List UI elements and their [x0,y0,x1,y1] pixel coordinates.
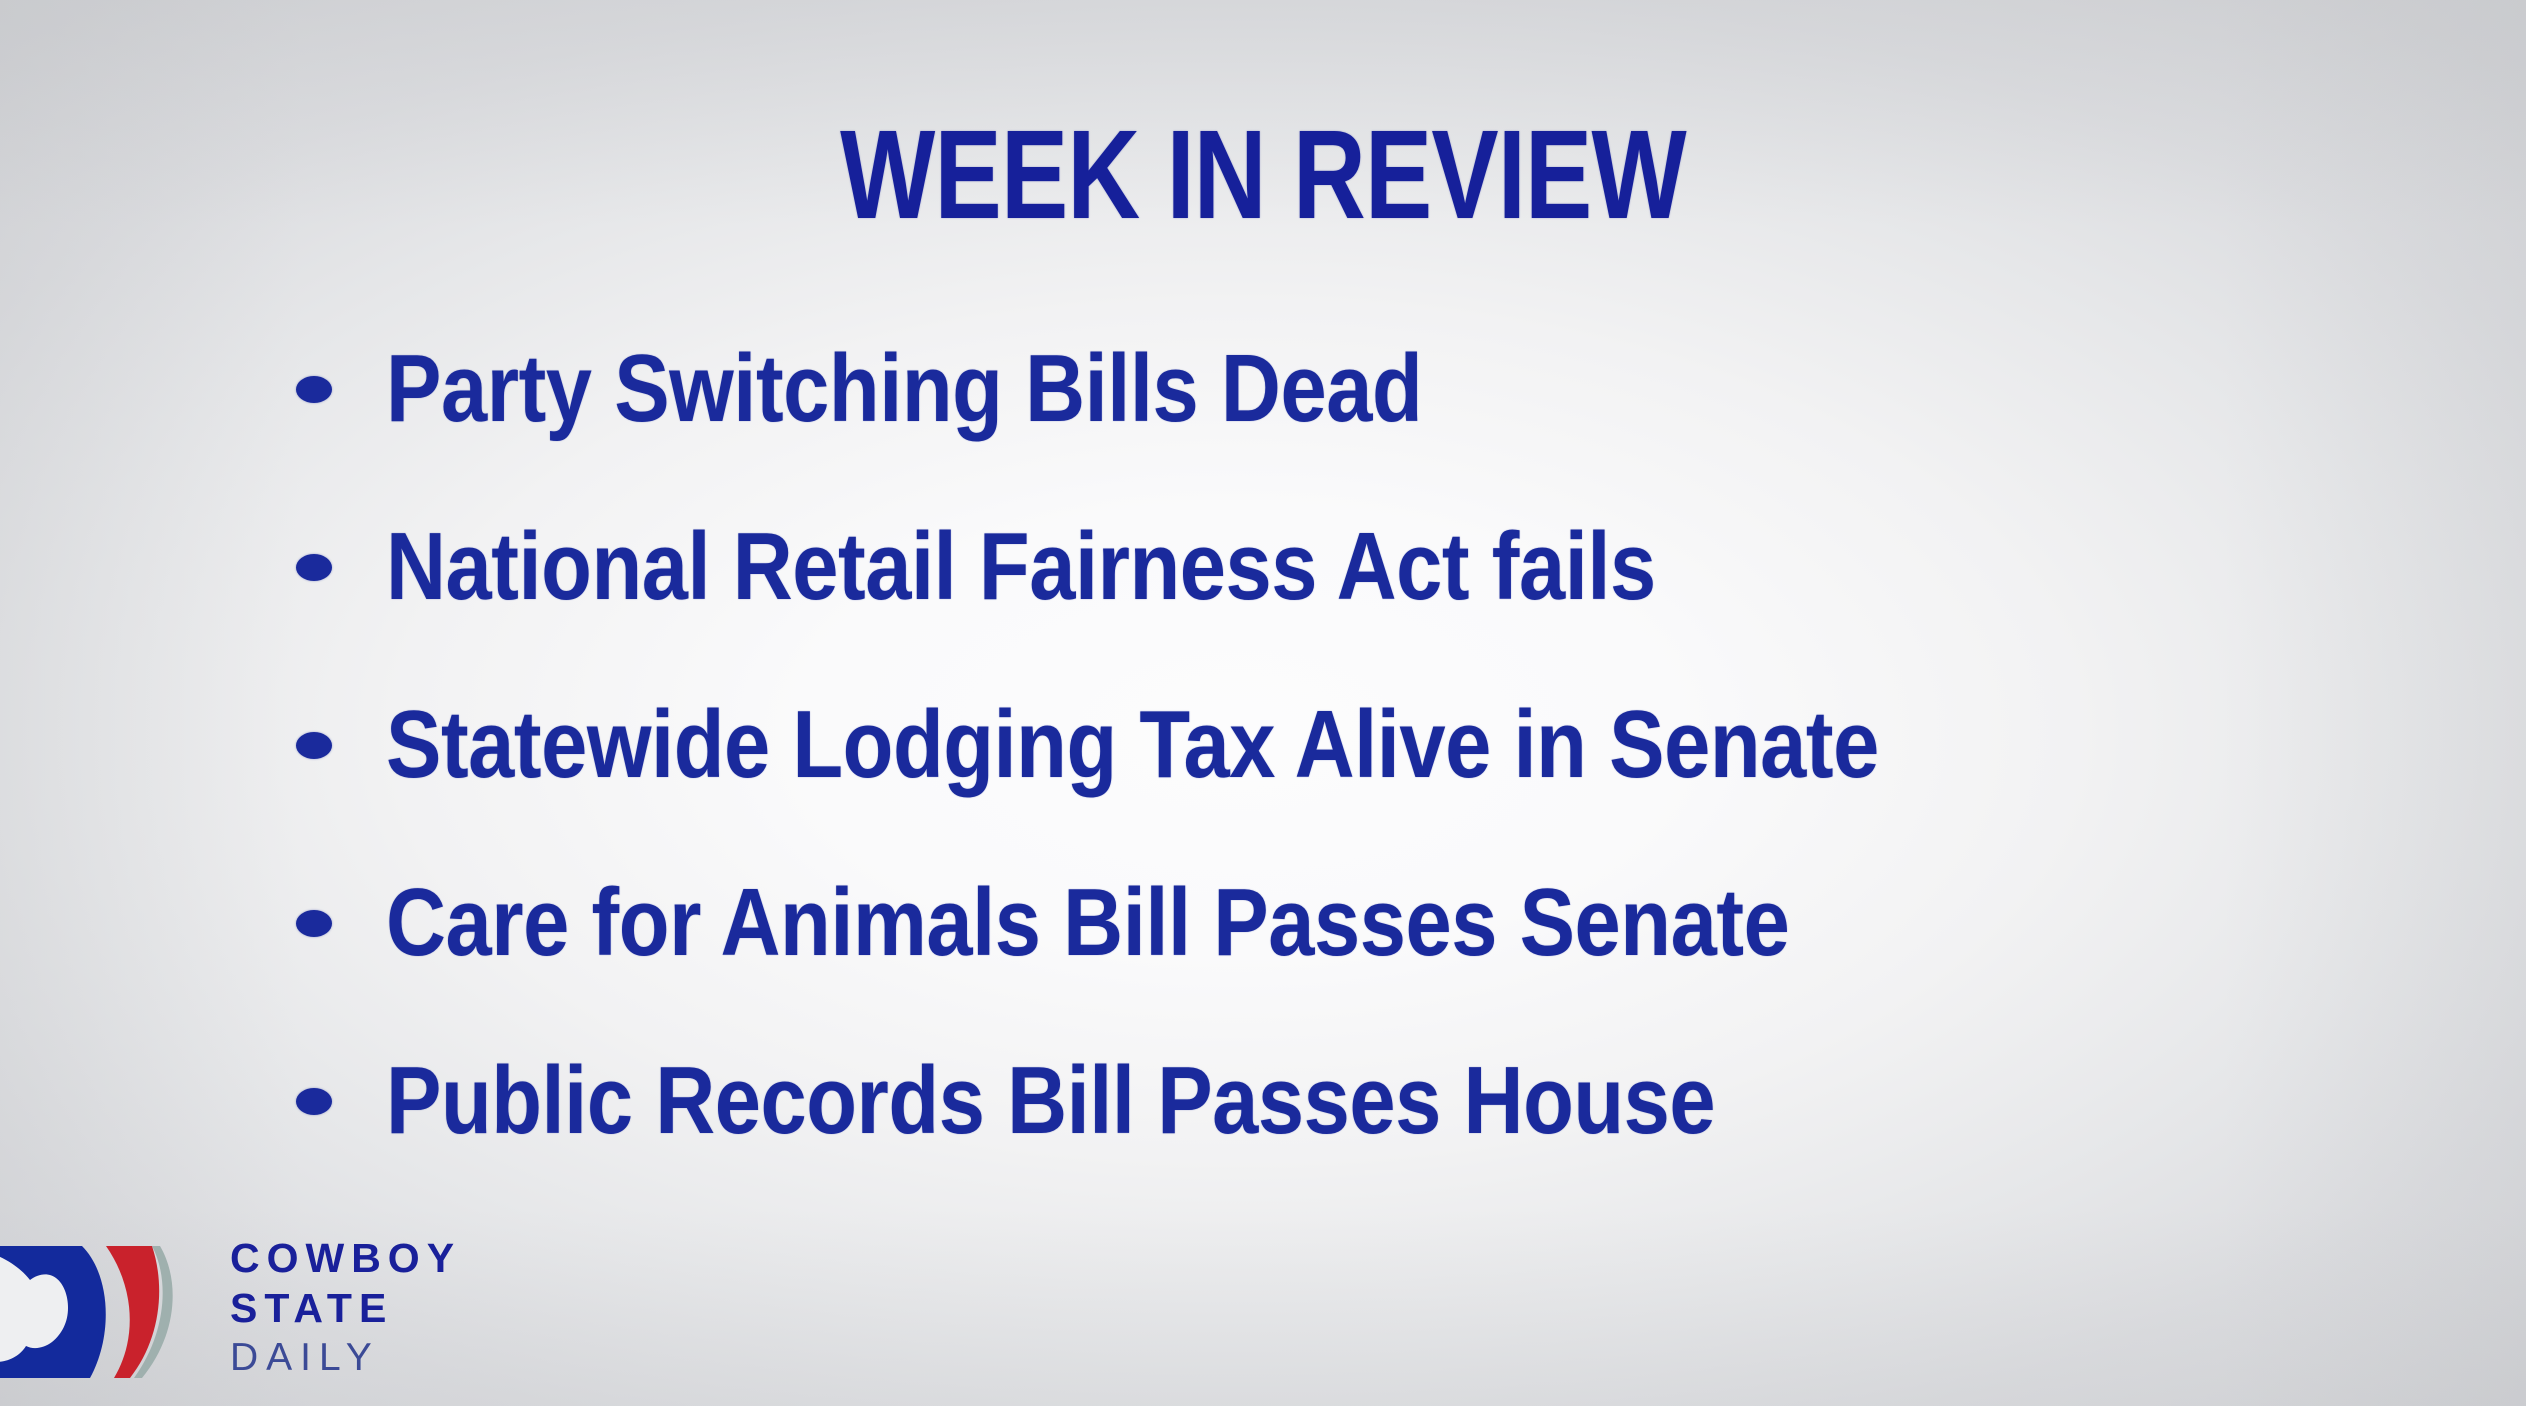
logo-line-cowboy: COWBOY [230,1233,461,1283]
bullet-list: Party Switching Bills Dead National Reta… [296,300,2456,1190]
bullet-dot-icon [296,732,332,759]
list-item-label: National Retail Fairness Act fails [386,519,1656,615]
logo-line-state: STATE [230,1283,461,1333]
bucking-horse-shield-icon [0,1222,214,1392]
list-item: Statewide Lodging Tax Alive in Senate [296,656,2456,834]
logo-wordmark: COWBOY STATE DAILY [230,1233,461,1382]
cowboy-state-daily-logo: COWBOY STATE DAILY [0,1222,461,1392]
list-item: National Retail Fairness Act fails [296,478,2456,656]
page-title: WEEK IN REVIEW [253,112,2274,238]
bullet-dot-icon [296,910,332,937]
slide-canvas: WEEK IN REVIEW Party Switching Bills Dea… [0,0,2526,1406]
list-item-label: Care for Animals Bill Passes Senate [386,875,1789,971]
list-item: Care for Animals Bill Passes Senate [296,834,2456,1012]
bullet-dot-icon [296,554,332,581]
logo-line-daily: DAILY [230,1335,461,1382]
list-item-label: Statewide Lodging Tax Alive in Senate [386,697,1879,793]
bullet-dot-icon [296,376,332,403]
list-item: Party Switching Bills Dead [296,300,2456,478]
bullet-dot-icon [296,1088,332,1115]
list-item-label: Party Switching Bills Dead [386,341,1422,437]
list-item-label: Public Records Bill Passes House [386,1053,1715,1149]
list-item: Public Records Bill Passes House [296,1012,2456,1190]
